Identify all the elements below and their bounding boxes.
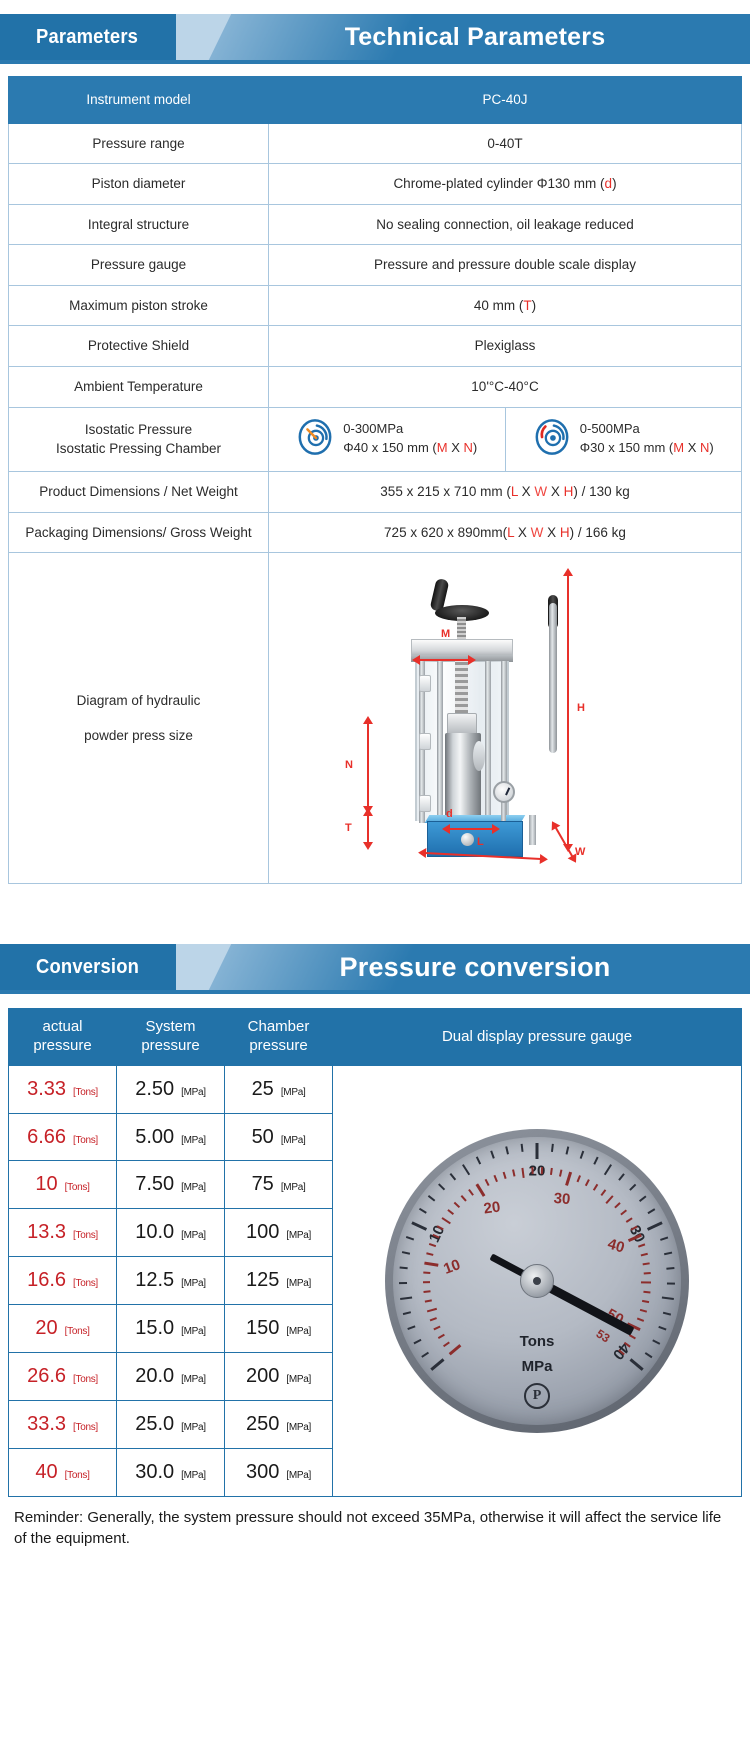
cell-actual-pressure: 26.6[Tons] xyxy=(9,1352,117,1400)
dimension-arrow-d xyxy=(449,828,493,830)
gauge-tick xyxy=(580,1151,584,1159)
cell-value-product-dimensions: 355 x 215 x 710 mm (L X W X H) / 130 kg xyxy=(269,472,742,513)
cell-system-pressure: 7.50[MPa] xyxy=(117,1161,225,1209)
gauge-tick xyxy=(439,1183,446,1190)
gauge-tick xyxy=(407,1325,415,1329)
cell-chamber-pressure: 250[MPa] xyxy=(225,1400,333,1448)
value: 13.3 xyxy=(27,1221,66,1244)
dim-x1: X xyxy=(514,525,531,540)
cylinder-highlight xyxy=(473,741,485,771)
dim-suffix: ) / 166 kg xyxy=(570,525,626,540)
unit: [MPa] xyxy=(281,1182,306,1193)
value: 6.66 xyxy=(27,1126,66,1149)
gauge-stem xyxy=(501,803,506,821)
cell-label-isostatic: Isostatic Pressure Isostatic Pressing Ch… xyxy=(9,407,269,472)
isostatic-dim-code-m: M xyxy=(437,440,448,455)
gauge-tick xyxy=(485,1178,490,1185)
value: 7.50 xyxy=(135,1173,174,1196)
cell-label: Piston diameter xyxy=(9,164,269,205)
unit: [Tons] xyxy=(65,1182,90,1193)
table-row-product-dimensions: Product Dimensions / Net Weight 355 x 21… xyxy=(9,472,742,513)
table-row: Piston diameter Chrome-plated cylinder Φ… xyxy=(9,164,742,205)
dimension-label-w: W xyxy=(575,845,585,861)
unit: [Tons] xyxy=(65,1470,90,1481)
table-row: 3.33[Tons] 2.50[MPa] 25[MPa] 10203040102… xyxy=(9,1065,742,1113)
gauge-tick xyxy=(428,1195,435,1201)
isostatic-dim-suffix: ) xyxy=(473,440,477,455)
table-row: Integral structure No sealing connection… xyxy=(9,204,742,245)
value: 5.00 xyxy=(135,1126,174,1149)
gauge-tick xyxy=(494,1174,498,1181)
dimension-label-d: d xyxy=(446,807,453,823)
cell-system-pressure: 5.00[MPa] xyxy=(117,1113,225,1161)
value: 300 xyxy=(246,1461,279,1484)
gauge-tick xyxy=(645,1352,652,1358)
banner-underline xyxy=(0,990,750,994)
cell-label: Pressure gauge xyxy=(9,245,269,286)
gauge-tick xyxy=(532,1167,534,1174)
dimension-arrow-m xyxy=(419,659,469,661)
gauge-tick xyxy=(644,1272,651,1274)
gauge-scale-label-tons: 40 xyxy=(605,1235,626,1256)
value: 250 xyxy=(246,1413,279,1436)
value: 25 xyxy=(252,1078,274,1101)
gauge-tick xyxy=(412,1220,428,1229)
gauge-tick xyxy=(477,1156,482,1164)
gauge-tick xyxy=(662,1297,674,1301)
spec-table-wrap: Instrument model PC-40J Pressure range 0… xyxy=(0,76,750,884)
dim-code-h: H xyxy=(564,484,574,499)
cell-system-pressure: 25.0[MPa] xyxy=(117,1400,225,1448)
banner-underline xyxy=(0,60,750,64)
gauge-tick xyxy=(594,1157,599,1165)
isostatic-option-300mpa: 0-300MPa Φ40 x 150 mm (M X N) xyxy=(269,408,505,472)
gauge-tick xyxy=(506,1146,509,1154)
table-row: Ambient Temperature 10'°C-40°C xyxy=(9,366,742,407)
gauge-tick xyxy=(641,1282,651,1284)
unit: [MPa] xyxy=(286,1422,311,1433)
value: 12.5 xyxy=(135,1269,174,1292)
value-tail: ) xyxy=(612,176,617,191)
value: 150 xyxy=(246,1317,279,1340)
dimension-arrow-t xyxy=(367,815,369,843)
isostatic-dim-x: X xyxy=(684,440,700,455)
guard-clip xyxy=(419,675,431,692)
value: 20 xyxy=(35,1317,57,1340)
value-text: Chrome-plated cylinder Φ130 mm ( xyxy=(393,176,604,191)
gauge-face: 10203040102030405053 Tons MPa P xyxy=(393,1137,681,1425)
cell-actual-pressure: 33.3[Tons] xyxy=(9,1400,117,1448)
isostatic-dim-suffix: ) xyxy=(709,440,713,455)
value-text: 40 mm ( xyxy=(474,298,524,313)
gauge-tick xyxy=(577,1175,581,1182)
gauge-tick xyxy=(552,1144,554,1152)
gauge-tick xyxy=(619,1173,625,1180)
reminder-note: Reminder: Generally, the system pressure… xyxy=(0,1497,750,1564)
value-code: d xyxy=(605,176,613,191)
dimension-arrow-w xyxy=(555,827,574,857)
press-machine-illustration xyxy=(397,565,527,855)
diagram-label-line2: powder press size xyxy=(15,718,262,753)
gauge-tick xyxy=(606,1196,614,1205)
pressure-gauge-icon xyxy=(296,418,334,462)
unit: [MPa] xyxy=(181,1326,206,1337)
guard-clip xyxy=(419,795,431,812)
column-header-chamber-pressure: Chamber pressure xyxy=(225,1009,333,1066)
unit: [MPa] xyxy=(181,1422,206,1433)
banner-title: Pressure conversion xyxy=(200,944,750,990)
isostatic-pressure-value: 0-500MPa xyxy=(580,421,640,436)
gauge-tick xyxy=(586,1179,591,1186)
banner-title: Technical Parameters xyxy=(200,14,750,60)
gauge-tick xyxy=(406,1235,414,1239)
cell-value-packaging-dimensions: 725 x 620 x 890mm(L X W X H) / 166 kg xyxy=(269,512,742,553)
table-row: Protective Shield Plexiglass xyxy=(9,326,742,367)
banner-tag-label: Parameters xyxy=(36,26,138,49)
value: 2.50 xyxy=(135,1078,174,1101)
cell-system-pressure: 12.5[MPa] xyxy=(117,1257,225,1305)
table-row-packaging-dimensions: Packaging Dimensions/ Gross Weight 725 x… xyxy=(9,512,742,553)
cell-chamber-pressure: 25[MPa] xyxy=(225,1065,333,1113)
gauge-tick xyxy=(423,1281,430,1283)
banner-tag-conversion: Conversion xyxy=(0,944,176,990)
header-line2: pressure xyxy=(229,1037,328,1056)
isostatic-option-text: 0-300MPa Φ40 x 150 mm (M X N) xyxy=(343,420,477,458)
unit: [MPa] xyxy=(286,1326,311,1337)
cell-system-pressure: 20.0[MPa] xyxy=(117,1352,225,1400)
gauge-tick xyxy=(423,1271,430,1273)
gauge-tick xyxy=(560,1169,563,1176)
unit: [MPa] xyxy=(181,1135,206,1146)
dimension-label-m: M xyxy=(441,627,450,643)
cell-chamber-pressure: 50[MPa] xyxy=(225,1113,333,1161)
conversion-header-row: actual pressure System pressure Chamber … xyxy=(9,1009,742,1066)
value: 200 xyxy=(246,1365,279,1388)
dim-code-w: W xyxy=(531,525,544,540)
pressure-gauge-icon xyxy=(533,418,571,462)
gauge-tick xyxy=(594,1184,599,1191)
gauge-tick xyxy=(413,1338,421,1343)
value-tail: ) xyxy=(532,298,537,313)
unit: [MPa] xyxy=(286,1470,311,1481)
gauge-tick xyxy=(503,1171,506,1178)
isostatic-dim-code-n: N xyxy=(463,440,472,455)
gauge-tick xyxy=(652,1340,660,1345)
gauge-tick xyxy=(663,1312,671,1315)
gauge-tick xyxy=(424,1260,438,1265)
dim-prefix: 725 x 620 x 890mm( xyxy=(384,525,507,540)
header-line1: Chamber xyxy=(229,1018,328,1037)
gauge-tick xyxy=(664,1252,672,1255)
dimension-label-t: T xyxy=(345,821,352,837)
gauge-scale-label-tons: 20 xyxy=(482,1198,501,1217)
banner-tag-label: Conversion xyxy=(36,956,139,979)
dimension-label-n: N xyxy=(345,758,353,774)
header-line1: System xyxy=(121,1018,220,1037)
gauge-tick xyxy=(400,1295,412,1299)
column-header-dual-display-gauge: Dual display pressure gauge xyxy=(333,1009,742,1066)
gauge-scale-label-tons: 10 xyxy=(441,1256,463,1278)
value: 100 xyxy=(246,1221,279,1244)
cell-chamber-pressure: 300[MPa] xyxy=(225,1448,333,1496)
gauge-tick xyxy=(448,1343,461,1354)
ram-head xyxy=(447,713,477,735)
gauge-tick xyxy=(643,1263,650,1266)
isostatic-dim-code-n: N xyxy=(700,440,709,455)
dim-suffix: ) / 130 kg xyxy=(573,484,629,499)
value: 10 xyxy=(35,1173,57,1196)
cell-actual-pressure: 40[Tons] xyxy=(9,1448,117,1496)
value: 16.6 xyxy=(27,1269,66,1292)
isostatic-option-text: 0-500MPa Φ30 x 150 mm (M X N) xyxy=(580,420,714,458)
gauge-tick xyxy=(461,1195,467,1201)
column-post xyxy=(437,661,443,823)
cell-value: 10'°C-40°C xyxy=(269,366,742,407)
dimension-label-h: H xyxy=(577,701,585,717)
gauge-tick xyxy=(601,1189,606,1196)
gauge-tick xyxy=(641,1253,648,1256)
gauge-tick xyxy=(567,1172,574,1186)
gauge-needle xyxy=(505,788,510,796)
cell-system-pressure: 30.0[MPa] xyxy=(117,1448,225,1496)
dim-x2: X xyxy=(543,525,560,540)
gauge-tick xyxy=(430,1317,437,1321)
table-row-instrument-model: Instrument model PC-40J xyxy=(9,77,742,124)
gauge-tick xyxy=(491,1150,495,1158)
value: 125 xyxy=(246,1269,279,1292)
cell-value: Plexiglass xyxy=(269,326,742,367)
isostatic-label-line2: Isostatic Pressing Chamber xyxy=(15,439,262,459)
isostatic-dim-prefix: Φ30 x 150 mm ( xyxy=(580,440,673,455)
unit: [MPa] xyxy=(181,1374,206,1385)
dim-code-l: L xyxy=(511,484,518,499)
pressure-conversion-table: actual pressure System pressure Chamber … xyxy=(8,1008,742,1497)
cell-actual-pressure: 6.66[Tons] xyxy=(9,1113,117,1161)
gauge-tick xyxy=(429,1242,436,1246)
column-header-actual-pressure: actual pressure xyxy=(9,1009,117,1066)
gauge-tick xyxy=(621,1210,627,1216)
gauge-tick xyxy=(443,1341,450,1346)
gauge-tick xyxy=(513,1169,516,1176)
value: 33.3 xyxy=(27,1413,66,1436)
table-row-isostatic-pressure: Isostatic Pressure Isostatic Pressing Ch… xyxy=(9,407,742,472)
cell-value-isostatic: 0-300MPa Φ40 x 150 mm (M X N) xyxy=(269,407,742,472)
guard-clip xyxy=(419,733,431,750)
cell-label: Pressure range xyxy=(9,123,269,164)
gauge-hub xyxy=(520,1264,554,1298)
cell-value: 0-40T xyxy=(269,123,742,164)
dimension-arrow-n xyxy=(367,723,369,807)
header-line1: actual xyxy=(13,1018,112,1037)
gauge-tick xyxy=(522,1167,525,1177)
table-row: Pressure range 0-40T xyxy=(9,123,742,164)
gauge-label-mpa: MPa xyxy=(522,1358,553,1375)
unit: [MPa] xyxy=(281,1087,306,1098)
unit: [Tons] xyxy=(73,1135,98,1146)
dim-code-h: H xyxy=(560,525,570,540)
value: 26.6 xyxy=(27,1365,66,1388)
isostatic-option-500mpa: 0-500MPa Φ30 x 150 mm (M X N) xyxy=(505,408,742,472)
cell-value: No sealing connection, oil leakage reduc… xyxy=(269,204,742,245)
cell-diagram-image: M d N T H L W xyxy=(269,553,742,884)
gauge-tick xyxy=(648,1222,664,1231)
gauge-tick xyxy=(629,1359,643,1372)
unit: [MPa] xyxy=(281,1135,306,1146)
value: 50 xyxy=(252,1126,274,1149)
gauge-tick xyxy=(658,1326,666,1330)
header-line2: pressure xyxy=(13,1037,112,1056)
table-row: Maximum piston stroke 40 mm (T) xyxy=(9,285,742,326)
cell-chamber-pressure: 75[MPa] xyxy=(225,1161,333,1209)
gauge-tick xyxy=(551,1168,553,1175)
pressure-conversion-banner: Conversion Pressure conversion xyxy=(0,944,750,990)
gauge-label-tons: Tons xyxy=(520,1333,555,1350)
cell-value: Chrome-plated cylinder Φ130 mm (d) xyxy=(269,164,742,205)
cell-chamber-pressure: 150[MPa] xyxy=(225,1305,333,1353)
gauge-tick xyxy=(438,1333,445,1338)
value: 20.0 xyxy=(135,1365,174,1388)
isostatic-dim-x: X xyxy=(448,440,464,455)
spec-page: Parameters Technical Parameters Instrume… xyxy=(0,14,750,1563)
unit: [MPa] xyxy=(181,1087,206,1098)
cell-value-instrument-model: PC-40J xyxy=(269,77,742,124)
unit: [Tons] xyxy=(73,1374,98,1385)
cell-chamber-pressure: 200[MPa] xyxy=(225,1352,333,1400)
cell-system-pressure: 10.0[MPa] xyxy=(117,1209,225,1257)
cell-label: Integral structure xyxy=(9,204,269,245)
table-row: Pressure gauge Pressure and pressure dou… xyxy=(9,245,742,286)
dimension-label-l: L xyxy=(477,835,484,851)
gauge-tick xyxy=(399,1281,407,1283)
table-row-diagram: Diagram of hydraulic powder press size xyxy=(9,553,742,884)
gauge-tick xyxy=(639,1196,646,1202)
conversion-table-wrap: actual pressure System pressure Chamber … xyxy=(0,1008,750,1497)
gauge-tick xyxy=(643,1291,650,1293)
gauge-tick xyxy=(469,1188,474,1195)
gauge-tick xyxy=(648,1209,656,1214)
gauge-tick xyxy=(403,1311,411,1314)
cell-value: Pressure and pressure double scale displ… xyxy=(269,245,742,286)
cell-label-diagram: Diagram of hydraulic powder press size xyxy=(9,553,269,884)
banner-tag-parameters: Parameters xyxy=(0,14,176,60)
gauge-tick xyxy=(542,1167,544,1174)
unit: [Tons] xyxy=(73,1087,98,1098)
gauge-scale-label-tons: 30 xyxy=(553,1189,571,1207)
unit: [Tons] xyxy=(73,1278,98,1289)
gauge-tick xyxy=(427,1307,437,1312)
cell-label: Ambient Temperature xyxy=(9,366,269,407)
value: 30.0 xyxy=(135,1461,174,1484)
gauge-scale-label-tons: 53 xyxy=(593,1326,612,1345)
gauge-tick xyxy=(637,1318,644,1322)
unit: [MPa] xyxy=(286,1374,311,1385)
unit: [Tons] xyxy=(65,1326,90,1337)
diagram-label-line1: Diagram of hydraulic xyxy=(15,683,262,718)
unit: [MPa] xyxy=(181,1182,206,1193)
gauge-tick xyxy=(442,1216,451,1223)
cell-label-product-dimensions: Product Dimensions / Net Weight xyxy=(9,472,269,513)
unit: [MPa] xyxy=(286,1230,311,1241)
unit: [MPa] xyxy=(181,1230,206,1241)
cell-label: Maximum piston stroke xyxy=(9,285,269,326)
gauge-tick xyxy=(605,1164,613,1175)
value: 3.33 xyxy=(27,1078,66,1101)
threaded-screw xyxy=(455,659,468,717)
cell-actual-pressure: 13.3[Tons] xyxy=(9,1209,117,1257)
gauge-tick xyxy=(537,1143,540,1159)
gauge-tick xyxy=(521,1143,523,1151)
isostatic-pressure-value: 0-300MPa xyxy=(343,421,403,436)
cell-system-pressure: 15.0[MPa] xyxy=(117,1305,225,1353)
cell-system-pressure: 2.50[MPa] xyxy=(117,1065,225,1113)
gauge-brand-logo: P xyxy=(524,1383,550,1409)
gauge-tick xyxy=(426,1252,433,1255)
cell-label-instrument-model: Instrument model xyxy=(9,77,269,124)
gauge-tick xyxy=(638,1244,645,1248)
cell-label: Protective Shield xyxy=(9,326,269,367)
value: 25.0 xyxy=(135,1413,174,1436)
hydraulic-press-diagram: M d N T H L W xyxy=(269,553,741,883)
header-line2: pressure xyxy=(121,1037,220,1056)
gauge-tick xyxy=(566,1146,569,1154)
gauge-tick xyxy=(402,1251,410,1254)
gauge-tick xyxy=(642,1300,649,1303)
isostatic-label-line1: Isostatic Pressure xyxy=(15,420,262,440)
gauge-tick xyxy=(463,1163,471,1174)
gauge-tick xyxy=(419,1207,427,1212)
technical-parameters-table: Instrument model PC-40J Pressure range 0… xyxy=(8,76,742,884)
dim-prefix: 355 x 215 x 710 mm ( xyxy=(380,484,511,499)
isostatic-dim-prefix: Φ40 x 150 mm ( xyxy=(343,440,436,455)
isostatic-dim-code-m: M xyxy=(673,440,684,455)
cell-actual-pressure: 10[Tons] xyxy=(9,1161,117,1209)
gauge-tick xyxy=(667,1283,675,1285)
gauge-tick xyxy=(626,1218,633,1223)
gauge-tick xyxy=(433,1325,440,1329)
column-header-system-pressure: System pressure xyxy=(117,1009,225,1066)
gauge-tick xyxy=(425,1299,432,1302)
dimension-arrow-h xyxy=(567,575,569,845)
pump-lever xyxy=(549,603,557,753)
unit: [MPa] xyxy=(181,1470,206,1481)
gauge-tick xyxy=(454,1201,460,1207)
gauge-tick xyxy=(400,1266,408,1268)
value-code: T xyxy=(523,298,531,313)
cell-dual-display-gauge-image: 10203040102030405053 Tons MPa P xyxy=(333,1065,742,1496)
base-side-rod xyxy=(529,815,536,845)
cell-chamber-pressure: 100[MPa] xyxy=(225,1209,333,1257)
unit: [Tons] xyxy=(73,1422,98,1433)
value: 75 xyxy=(252,1173,274,1196)
gauge-tick xyxy=(630,1184,637,1191)
dim-code-w: W xyxy=(534,484,547,499)
gauge-tick xyxy=(423,1290,430,1292)
technical-parameters-banner: Parameters Technical Parameters xyxy=(0,14,750,60)
dual-display-gauge: 10203040102030405053 Tons MPa P xyxy=(333,1066,741,1496)
gauge-tick xyxy=(640,1309,647,1312)
unit: [Tons] xyxy=(73,1230,98,1241)
gauge-tick xyxy=(477,1182,487,1195)
gauge-tick xyxy=(421,1351,428,1357)
gauge-tick xyxy=(429,1357,443,1370)
machine-pressure-gauge-icon xyxy=(493,781,515,803)
column-post xyxy=(485,661,491,823)
value: 10.0 xyxy=(135,1221,174,1244)
value: 40 xyxy=(35,1461,57,1484)
gauge-tick xyxy=(666,1267,674,1269)
cell-actual-pressure: 3.33[Tons] xyxy=(9,1065,117,1113)
unit: [MPa] xyxy=(181,1278,206,1289)
